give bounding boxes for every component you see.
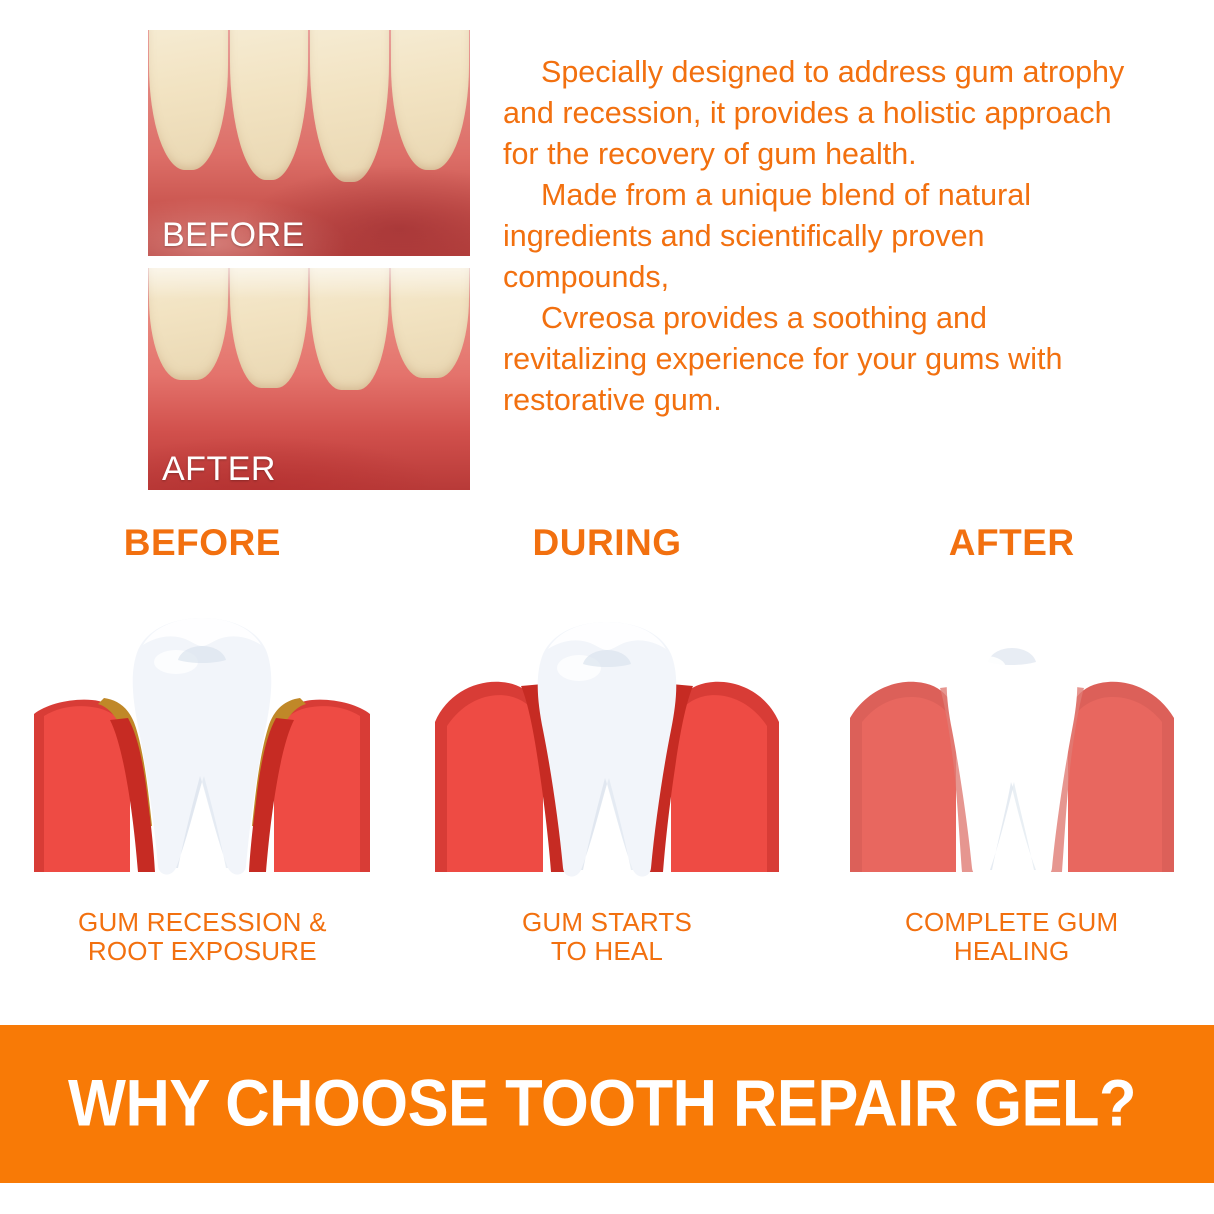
after-photo: AFTER	[148, 268, 470, 490]
stage-after: AFTER COMPLETE GUM HEALING	[809, 520, 1214, 1020]
stage-during: DURING GUM STARTS TO HEAL	[405, 520, 810, 1020]
stage-during-caption-line2: TO HEAL	[405, 937, 810, 966]
stage-after-title: AFTER	[809, 520, 1214, 576]
stage-after-caption-line2: HEALING	[809, 937, 1214, 966]
stage-before-caption-line2: ROOT EXPOSURE	[0, 937, 405, 966]
stage-before: BEFORE	[0, 520, 405, 1020]
stage-after-caption-line1: COMPLETE GUM	[809, 908, 1214, 937]
headline-text: WHY CHOOSE TOOTH REPAIR GEL?	[68, 1064, 1136, 1140]
stage-after-caption: COMPLETE GUM HEALING	[809, 908, 1214, 966]
stage-during-title: DURING	[405, 520, 810, 576]
before-photo: BEFORE	[148, 30, 470, 256]
intro-paragraph-2: Made from a unique blend of natural ingr…	[503, 175, 1128, 298]
treatment-stages: BEFORE	[0, 520, 1214, 1020]
stage-before-title: BEFORE	[0, 520, 405, 576]
tooth-healed-diagram	[836, 576, 1188, 886]
stage-before-caption: GUM RECESSION & ROOT EXPOSURE	[0, 908, 405, 966]
stage-before-caption-line1: GUM RECESSION &	[0, 908, 405, 937]
tooth-recession-diagram	[26, 576, 378, 886]
before-photo-label: BEFORE	[162, 218, 305, 252]
stage-during-caption: GUM STARTS TO HEAL	[405, 908, 810, 966]
intro-paragraph-3: Cvreosa provides a soothing and revitali…	[503, 298, 1128, 421]
hero-section: BEFORE AFTER Specially designed to addre…	[0, 0, 1214, 510]
stage-during-caption-line1: GUM STARTS	[405, 908, 810, 937]
intro-copy: Specially designed to address gum atroph…	[503, 52, 1128, 421]
intro-paragraph-1: Specially designed to address gum atroph…	[503, 52, 1128, 175]
tooth-healing-diagram	[431, 576, 783, 886]
after-photo-label: AFTER	[162, 452, 276, 486]
headline-banner: WHY CHOOSE TOOTH REPAIR GEL?	[0, 1025, 1214, 1183]
